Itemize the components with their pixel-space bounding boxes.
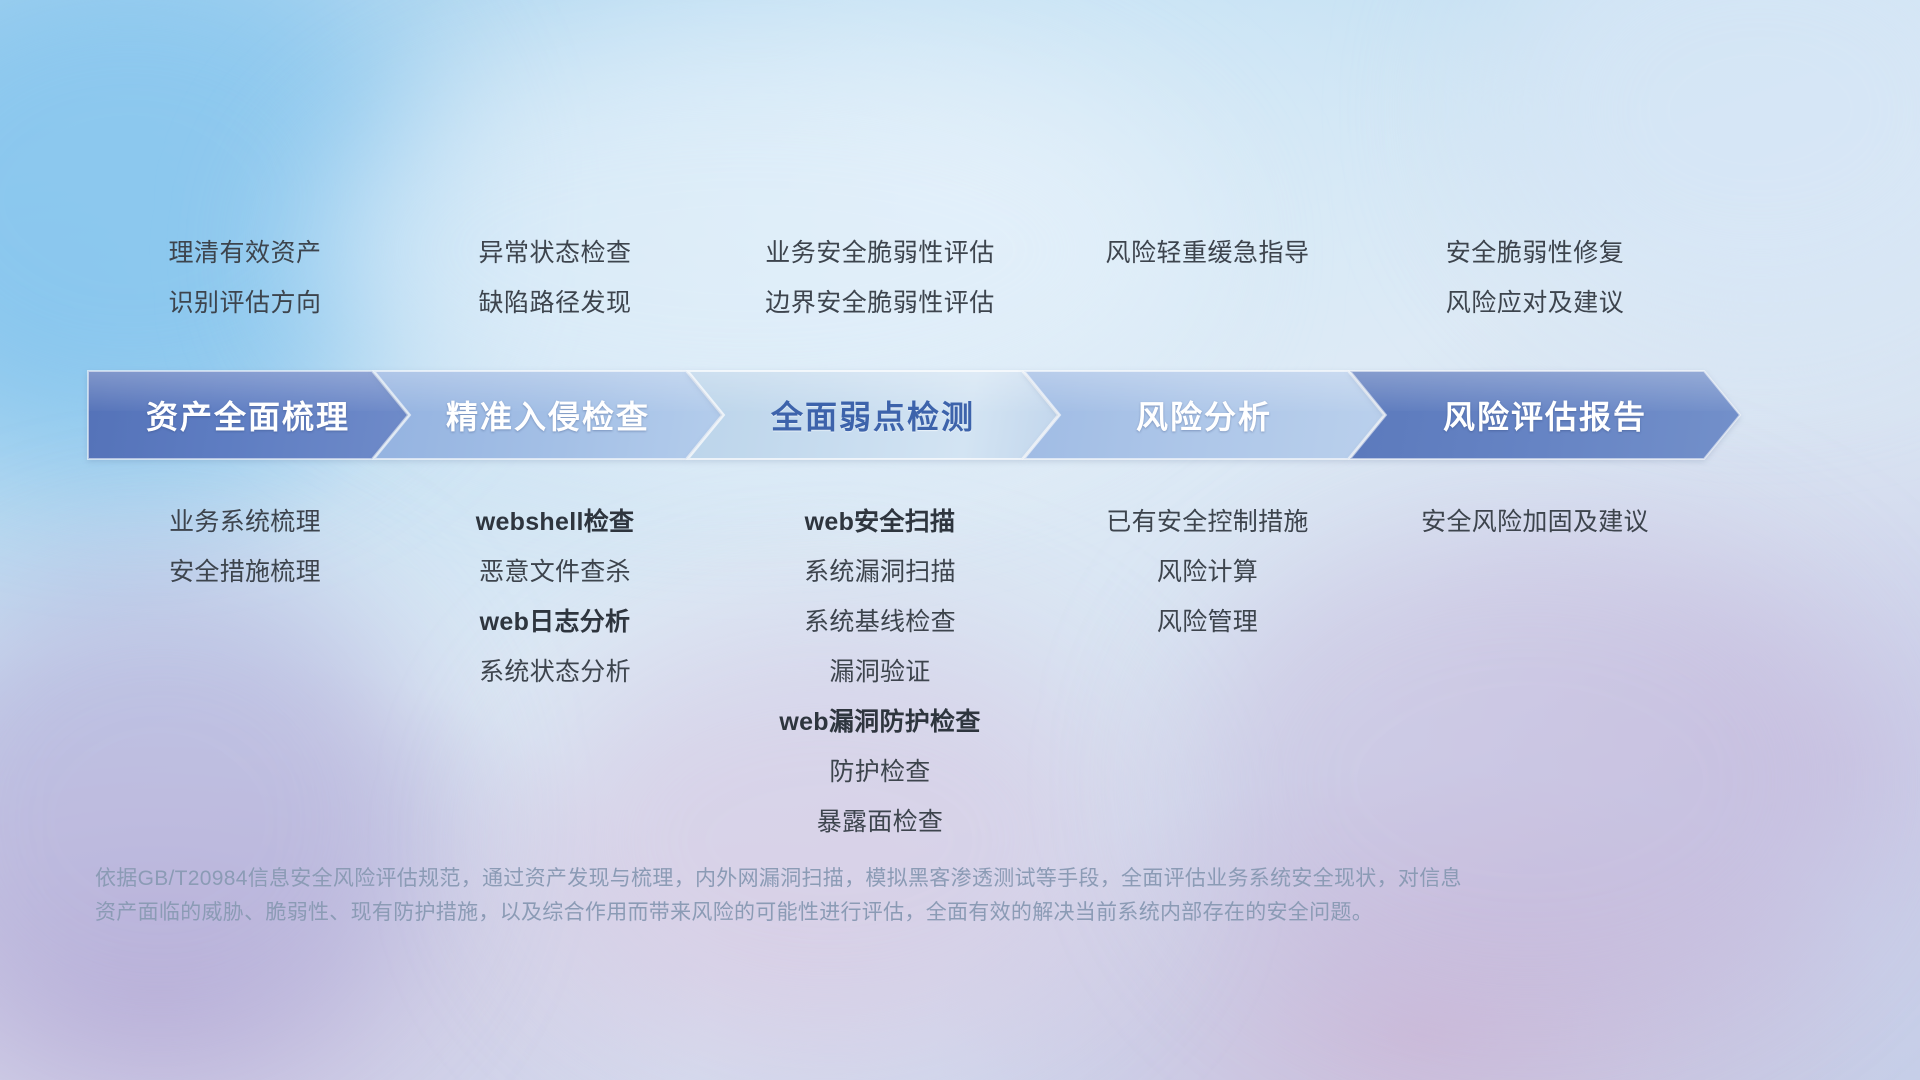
- process-chevron-band: 资产全面梳理 精准入侵检查: [88, 371, 1838, 459]
- list-item: 防护检查: [715, 747, 1045, 797]
- stage-title: 精准入侵检查: [446, 392, 650, 438]
- bottom-items-col-2: webshell检查 恶意文件查杀 web日志分析 系统状态分析: [395, 497, 715, 847]
- list-item: 风险计算: [1045, 547, 1370, 597]
- bottom-items-col-3: web安全扫描 系统漏洞扫描 系统基线检查 漏洞验证 web漏洞防护检查 防护检…: [715, 497, 1045, 847]
- top-note: 风险应对及建议: [1370, 278, 1700, 328]
- stage-chevron-risk-analysis[interactable]: 风险分析: [1024, 371, 1384, 459]
- stage-chevron-assessment-report[interactable]: 风险评估报告: [1350, 371, 1740, 459]
- top-notes-col-5: 安全脆弱性修复 风险应对及建议: [1370, 228, 1700, 328]
- bottom-items-row: 业务系统梳理 安全措施梳理 webshell检查 恶意文件查杀 web日志分析 …: [95, 497, 1848, 847]
- footer-line-1: 依据GB/T20984信息安全风险评估规范，通过资产发现与梳理，内外网漏洞扫描，…: [95, 862, 1555, 896]
- list-item: 已有安全控制措施: [1045, 497, 1370, 547]
- top-notes-row: 理清有效资产 识别评估方向 异常状态检查 缺陷路径发现 业务安全脆弱性评估 边界…: [95, 228, 1848, 328]
- list-item: web安全扫描: [715, 497, 1045, 547]
- list-item: 业务系统梳理: [95, 497, 395, 547]
- list-item: 暴露面检查: [715, 797, 1045, 847]
- list-item: 恶意文件查杀: [395, 547, 715, 597]
- list-item: 系统状态分析: [395, 647, 715, 697]
- stage-title: 全面弱点检测: [771, 392, 975, 438]
- list-item: 安全风险加固及建议: [1370, 497, 1700, 547]
- top-notes-col-1: 理清有效资产 识别评估方向: [95, 228, 395, 328]
- list-item: 系统基线检查: [715, 597, 1045, 647]
- top-note: 安全脆弱性修复: [1370, 228, 1700, 278]
- stage-title: 资产全面梳理: [146, 392, 350, 438]
- top-notes-col-4: 风险轻重缓急指导: [1045, 228, 1370, 328]
- top-note: 理清有效资产: [95, 228, 395, 278]
- diagram-canvas: 理清有效资产 识别评估方向 异常状态检查 缺陷路径发现 业务安全脆弱性评估 边界…: [0, 0, 1920, 1080]
- top-note: 风险轻重缓急指导: [1045, 228, 1370, 278]
- diagram-content: 理清有效资产 识别评估方向 异常状态检查 缺陷路径发现 业务安全脆弱性评估 边界…: [0, 0, 1920, 1080]
- top-note: 缺陷路径发现: [395, 278, 715, 328]
- top-note: 识别评估方向: [95, 278, 395, 328]
- bottom-items-col-5: 安全风险加固及建议: [1370, 497, 1700, 847]
- stage-chevron-weakness-detection[interactable]: 全面弱点检测: [688, 371, 1058, 459]
- stage-chevron-asset-inventory[interactable]: 资产全面梳理: [88, 371, 408, 459]
- top-notes-col-3: 业务安全脆弱性评估 边界安全脆弱性评估: [715, 228, 1045, 328]
- stage-chevron-intrusion-check[interactable]: 精准入侵检查: [374, 371, 722, 459]
- list-item: web漏洞防护检查: [715, 697, 1045, 747]
- top-note: 异常状态检查: [395, 228, 715, 278]
- list-item: 安全措施梳理: [95, 547, 395, 597]
- list-item: web日志分析: [395, 597, 715, 647]
- top-notes-col-2: 异常状态检查 缺陷路径发现: [395, 228, 715, 328]
- list-item: 系统漏洞扫描: [715, 547, 1045, 597]
- footer-description: 依据GB/T20984信息安全风险评估规范，通过资产发现与梳理，内外网漏洞扫描，…: [95, 862, 1555, 930]
- top-note: 业务安全脆弱性评估: [715, 228, 1045, 278]
- stage-title: 风险分析: [1136, 392, 1272, 438]
- list-item: 风险管理: [1045, 597, 1370, 647]
- footer-line-2: 资产面临的威胁、脆弱性、现有防护措施，以及综合作用而带来风险的可能性进行评估，全…: [95, 896, 1555, 930]
- bottom-items-col-4: 已有安全控制措施 风险计算 风险管理: [1045, 497, 1370, 847]
- bottom-items-col-1: 业务系统梳理 安全措施梳理: [95, 497, 395, 847]
- list-item: webshell检查: [395, 497, 715, 547]
- list-item: 漏洞验证: [715, 647, 1045, 697]
- stage-title: 风险评估报告: [1443, 392, 1647, 438]
- top-note: 边界安全脆弱性评估: [715, 278, 1045, 328]
